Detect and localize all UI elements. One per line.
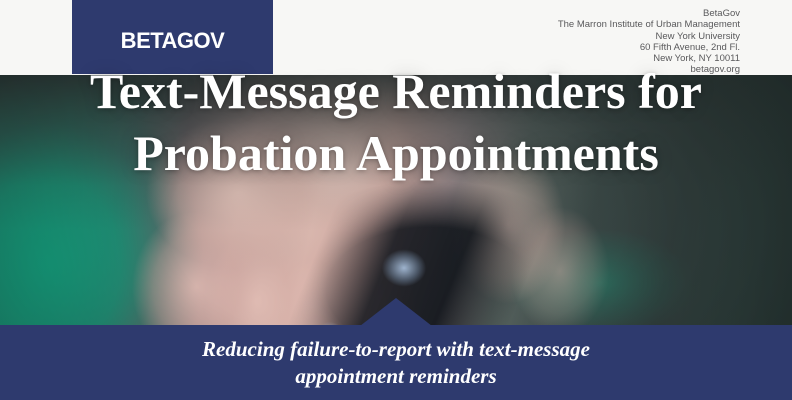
poster-banner: BetaGov BetaGov The Marron Institute of … — [0, 0, 792, 400]
band-notch-triangle — [360, 298, 432, 326]
address-line-university: New York University — [558, 31, 740, 42]
page-subtitle-line-1: Reducing failure-to-report with text-mes… — [0, 336, 792, 363]
page-subtitle: Reducing failure-to-report with text-mes… — [0, 336, 792, 390]
address-line-street: 60 Fifth Avenue, 2nd Fl. — [558, 42, 740, 53]
subtitle-band: Reducing failure-to-report with text-mes… — [0, 325, 792, 400]
page-title-line-2: Probation Appointments — [0, 122, 792, 184]
betagov-logo-text: BetaGov — [121, 22, 225, 53]
address-line-institute: The Marron Institute of Urban Management — [558, 19, 740, 30]
page-subtitle-line-2: appointment reminders — [0, 363, 792, 390]
page-title: Text-Message Reminders for Probation App… — [0, 60, 792, 184]
address-line-org: BetaGov — [558, 8, 740, 19]
page-title-line-1: Text-Message Reminders for — [0, 60, 792, 122]
